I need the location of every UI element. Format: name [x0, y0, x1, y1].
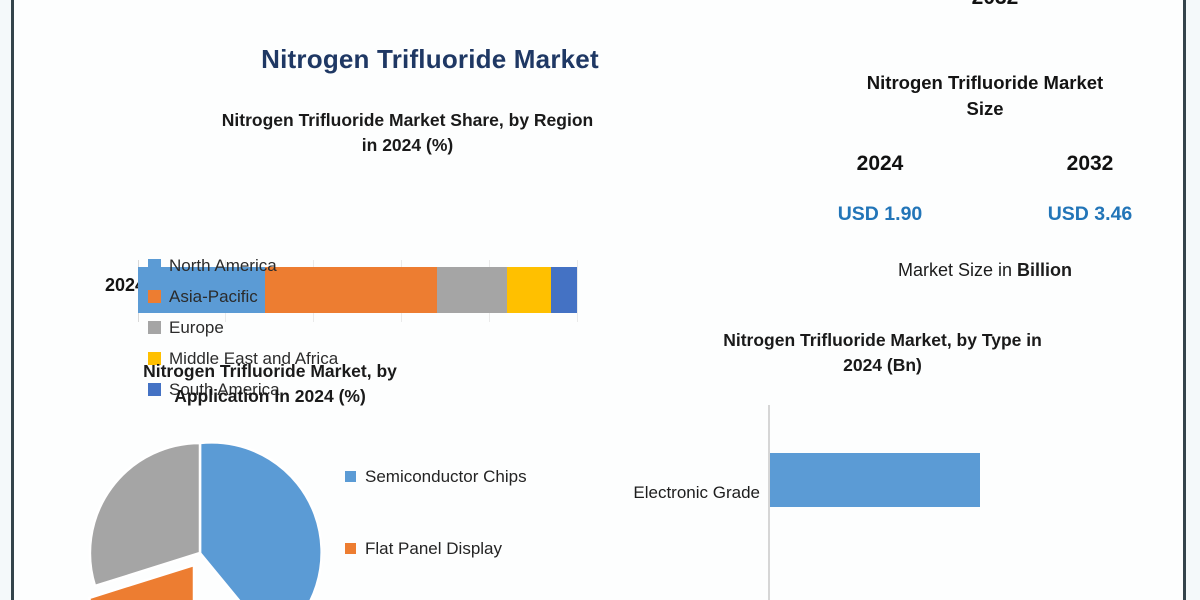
application-legend: Semiconductor ChipsFlat Panel Display — [345, 467, 585, 600]
frame-border-left — [11, 0, 14, 600]
market-size-panel: 2032 Nitrogen Trifluoride Market Size 20… — [790, 0, 1180, 300]
region-legend-label: Asia-Pacific — [169, 287, 258, 307]
page-title: Nitrogen Trifluoride Market — [150, 44, 710, 75]
application-chart-title: Nitrogen Trifluoride Market, by Applicat… — [35, 359, 505, 409]
region-legend-item[interactable]: Asia-Pacific — [148, 281, 448, 312]
market-size-value-2032: USD 3.46 — [1015, 203, 1165, 226]
type-chart-title-line2: 2024 (Bn) — [843, 355, 922, 375]
application-share-chart: Nitrogen Trifluoride Market, by Applicat… — [15, 355, 585, 600]
region-legend-item[interactable]: Europe — [148, 312, 448, 343]
market-size-unit-prefix: Market Size in — [898, 260, 1017, 280]
region-category-label: 2024 — [65, 275, 145, 296]
infographic-canvas: Nitrogen Trifluoride Market Nitrogen Tri… — [0, 0, 1200, 600]
market-size-unit-value: Billion — [1017, 260, 1072, 280]
application-chart-title-line1: Nitrogen Trifluoride Market, by — [143, 361, 397, 381]
type-chart-title-line1: Nitrogen Trifluoride Market, by Type in — [723, 330, 1042, 350]
type-bar-electronic-grade — [770, 453, 980, 507]
legend-swatch-icon — [148, 321, 161, 334]
pie-svg — [70, 431, 335, 600]
type-category-label: Electronic Grade — [585, 483, 760, 503]
region-share-chart: Nitrogen Trifluoride Market Share, by Re… — [20, 100, 680, 340]
region-chart-title-line2: in 2024 (%) — [362, 135, 453, 155]
region-legend-label: North America — [169, 256, 277, 276]
region-legend-label: Europe — [169, 318, 224, 338]
region-chart-title-line1: Nitrogen Trifluoride Market Share, by Re… — [222, 110, 593, 130]
market-size-title: Nitrogen Trifluoride Market Size — [800, 70, 1170, 123]
pie-slice-others — [90, 443, 200, 586]
region-chart-title: Nitrogen Trifluoride Market Share, by Re… — [130, 108, 685, 158]
application-legend-item[interactable]: Semiconductor Chips — [345, 467, 585, 539]
application-chart-title-line2: Application In 2024 (%) — [174, 386, 366, 406]
market-size-title-line2: Size — [966, 98, 1003, 119]
frame-inner-left — [0, 0, 11, 600]
application-legend-item[interactable]: Flat Panel Display — [345, 539, 585, 600]
cut-off-year-label: 2032 — [940, 0, 1050, 4]
type-share-chart: Nitrogen Trifluoride Market, by Type in … — [580, 320, 1185, 600]
market-size-value-2024: USD 1.90 — [805, 203, 955, 226]
application-legend-label: Semiconductor Chips — [365, 467, 527, 487]
market-size-unit-note: Market Size in Billion — [800, 260, 1170, 281]
frame-inner-right — [1186, 0, 1200, 600]
type-chart-title: Nitrogen Trifluoride Market, by Type in … — [630, 328, 1135, 378]
application-legend-label: Flat Panel Display — [365, 539, 502, 559]
pie-slice-semiconductor-chips — [200, 442, 322, 600]
market-size-year-2024: 2024 — [805, 152, 955, 176]
legend-swatch-icon — [148, 259, 161, 272]
market-size-title-line1: Nitrogen Trifluoride Market — [867, 72, 1103, 93]
region-plot-area: 2024 — [20, 180, 680, 240]
legend-swatch-icon — [345, 471, 356, 482]
legend-swatch-icon — [148, 290, 161, 303]
legend-swatch-icon — [345, 543, 356, 554]
market-size-year-2032: 2032 — [1015, 152, 1165, 176]
pie-plot-area — [70, 431, 335, 600]
region-legend-item[interactable]: North America — [148, 250, 448, 281]
